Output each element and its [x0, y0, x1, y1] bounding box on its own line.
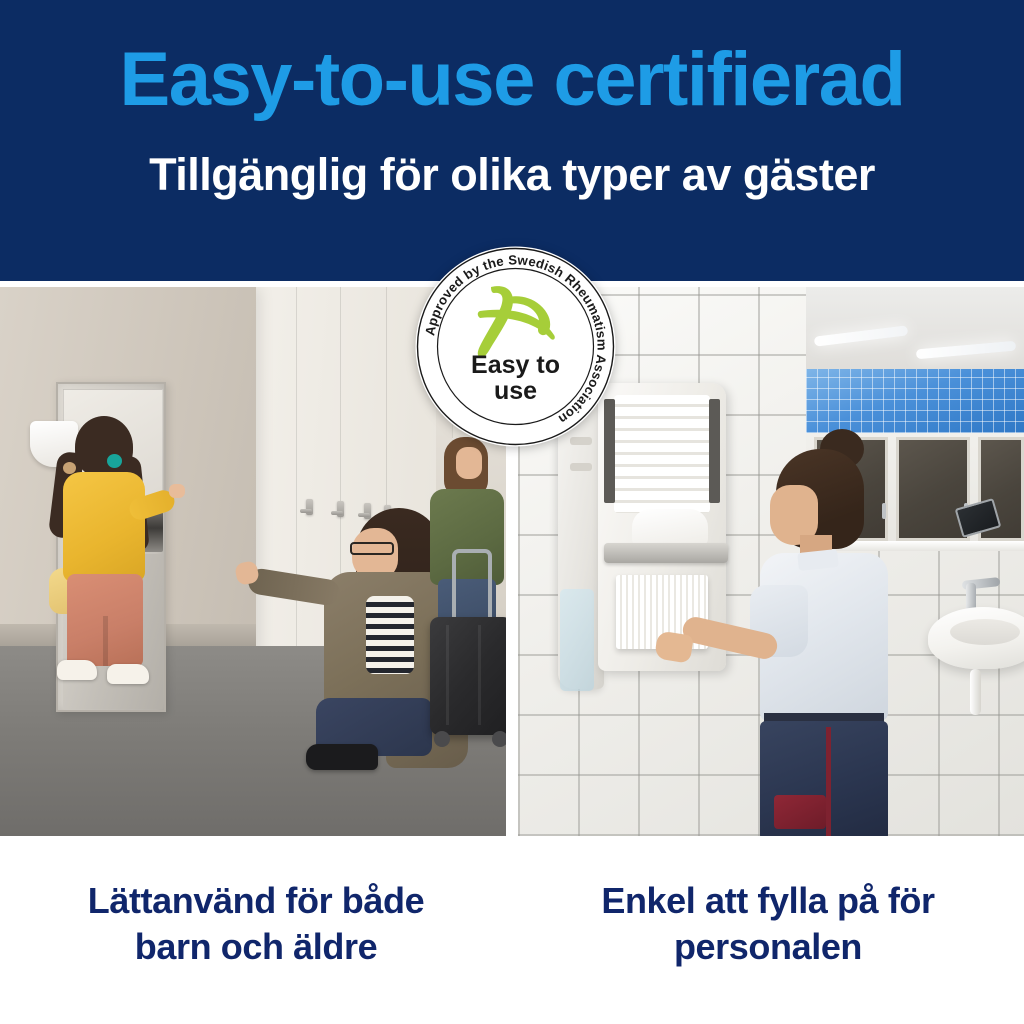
woman-sneaker [306, 744, 378, 770]
blue-mosaic-tile-band [806, 369, 1024, 433]
caption-right-line1: Enkel att fylla på för [512, 878, 1024, 924]
suitcase-wheel-right [492, 731, 506, 747]
traveller-face [456, 447, 482, 479]
child-figure [45, 416, 165, 686]
dispenser-paper-stack-top [614, 395, 710, 513]
child-shoe-right [107, 664, 149, 684]
badge-background [416, 247, 616, 447]
sink-drain-pipe [970, 669, 981, 715]
child-hand [169, 484, 185, 498]
badge-center-line1: Easy to [471, 351, 560, 379]
dispenser-mount-slot [570, 463, 592, 471]
staff-red-pocket [774, 795, 826, 829]
page-title: Easy-to-use certifierad [120, 42, 905, 118]
dispenser-clear-window [560, 589, 594, 691]
badge-center-line2: use [494, 377, 537, 405]
staff-trouser-stripe [826, 727, 831, 836]
dispenser-paper-fluff [632, 509, 708, 545]
child-leg-split [103, 616, 108, 666]
caption-left-line2: barn och äldre [0, 924, 512, 970]
suitcase-telescopic-handle [452, 549, 492, 619]
header-banner: Easy-to-use certifierad Tillgänglig för … [0, 0, 1024, 281]
poster-root: Easy-to-use certifierad Tillgänglig för … [0, 0, 1024, 1024]
caption-right: Enkel att fylla på för personalen [512, 870, 1024, 1024]
certification-badge: Approved by the Swedish Rheumatism Assoc… [414, 245, 617, 448]
woman-glasses-icon [350, 542, 394, 555]
child-shoe-left [57, 660, 97, 680]
woman-striped-top [366, 596, 414, 674]
child-yellow-sweater [63, 472, 145, 582]
caption-right-line2: personalen [512, 924, 1024, 970]
caption-left: Lättanvänd för både barn och äldre [0, 870, 512, 1024]
child-hair-tie-teal [107, 454, 122, 468]
child-hair [75, 416, 133, 478]
staff-member-figure [714, 427, 904, 836]
basin-bowl [950, 619, 1020, 645]
suitcase [430, 617, 506, 735]
suitcase-wheel-left [434, 731, 450, 747]
caption-row: Lättanvänd för både barn och äldre Enkel… [0, 870, 1024, 1024]
caption-left-line1: Lättanvänd för både [0, 878, 512, 924]
dispenser-feed-bar [604, 543, 728, 563]
page-subtitle: Tillgänglig för olika typer av gäster [149, 152, 875, 197]
